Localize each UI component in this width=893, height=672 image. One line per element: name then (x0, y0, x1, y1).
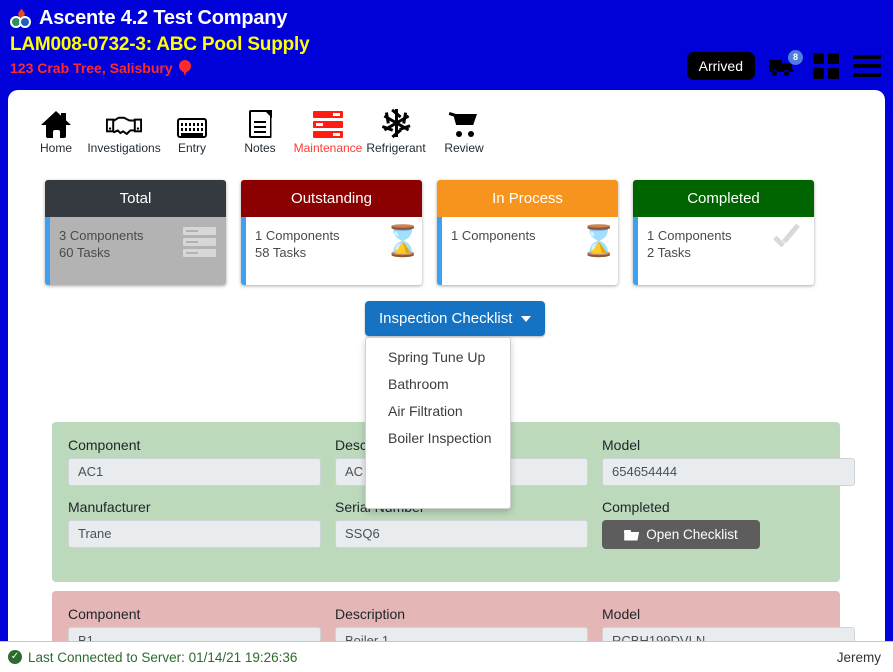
field-component[interactable]: AC1 (68, 458, 321, 486)
connection-status: ✓ Last Connected to Server: 01/14/21 19:… (8, 650, 297, 665)
truck-badge-count: 8 (788, 50, 803, 65)
nav-label-investigations: Investigations (87, 141, 160, 155)
card-text-completed: 1 Components 2 Tasks (647, 227, 732, 261)
card-title-completed: Completed (633, 180, 814, 217)
card-body-in-process: 1 Components ⌛ (437, 217, 618, 285)
main-content: Home Investigations (8, 90, 885, 641)
card-text-outstanding: 1 Components 58 Tasks (255, 227, 340, 261)
hourglass-icon: ⌛ (580, 227, 608, 259)
header-brand-row: Ascente 4.2 Test Company (10, 5, 883, 32)
card-body-total: 3 Components 60 Tasks (45, 217, 226, 285)
label-component: Component (68, 436, 321, 455)
map-pin-icon[interactable] (179, 60, 191, 77)
nav-item-investigations[interactable]: Investigations (90, 106, 158, 155)
card-components-completed: 1 Components (647, 227, 732, 244)
nav-item-refrigerant[interactable]: Refrigerant (362, 106, 430, 155)
label-component: Component (68, 605, 321, 624)
cart-icon (449, 106, 479, 138)
job-address: 123 Crab Tree, Salisbury (10, 58, 173, 78)
truck-icon[interactable]: 8 (769, 53, 799, 79)
status-card-in-process[interactable]: In Process 1 Components ⌛ (437, 180, 618, 285)
card-body-completed: 1 Components 2 Tasks (633, 217, 814, 285)
card-components-outstanding: 1 Components (255, 227, 340, 244)
card-text-total: 3 Components 60 Tasks (59, 227, 144, 261)
connection-status-text: Last Connected to Server: 01/14/21 19:26… (28, 650, 297, 665)
menu-item-boiler-inspection[interactable]: Boiler Inspection (366, 425, 510, 452)
card-title-outstanding: Outstanding (241, 180, 422, 217)
field-serial-number[interactable]: SSQ6 (335, 520, 588, 548)
menu-item-air-filtration[interactable]: Air Filtration (366, 398, 510, 425)
grid-menu-icon[interactable] (813, 53, 839, 79)
home-icon (41, 106, 71, 138)
nav-label-refrigerant: Refrigerant (366, 141, 425, 155)
panel-col-component: Component AC1 Manufacturer Trane (68, 436, 321, 564)
status-bar: ✓ Last Connected to Server: 01/14/21 19:… (0, 641, 893, 672)
app-title: Ascente 4.2 Test Company (39, 6, 287, 31)
card-components-total: 3 Components (59, 227, 144, 244)
card-tasks-outstanding: 58 Tasks (255, 244, 340, 261)
water-flame-logo-icon (10, 9, 32, 29)
menu-item-spring-tune-up[interactable]: Spring Tune Up (366, 344, 510, 371)
inspection-checklist-dropdown: Inspection Checklist Spring Tune Up Bath… (365, 301, 545, 509)
nav-item-home[interactable]: Home (22, 106, 90, 155)
status-card-outstanding[interactable]: Outstanding 1 Components 58 Tasks ⌛ (241, 180, 422, 285)
open-checklist-button[interactable]: Open Checklist (602, 520, 760, 549)
card-title-in-process: In Process (437, 180, 618, 217)
label-model: Model (602, 436, 855, 455)
status-badge[interactable]: Arrived (687, 52, 755, 80)
inspection-checklist-button-label: Inspection Checklist (379, 310, 512, 327)
card-title-total: Total (45, 180, 226, 217)
nav-item-review[interactable]: Review (430, 106, 498, 155)
nav-item-notes[interactable]: Notes (226, 106, 294, 155)
document-icon (249, 106, 272, 138)
status-card-total[interactable]: Total 3 Components 60 Tasks (45, 180, 226, 285)
status-card-row: Total 3 Components 60 Tasks Outstanding … (45, 180, 845, 285)
panel-col-model: Model 654654444 Completed Open Checklist (602, 436, 855, 564)
check-circle-icon: ✓ (8, 650, 22, 664)
nav-label-entry: Entry (178, 141, 206, 155)
folder-open-icon (624, 529, 639, 541)
inspection-checklist-menu: Spring Tune Up Bathroom Air Filtration B… (365, 337, 511, 509)
card-text-in-process: 1 Components (451, 227, 536, 244)
menu-item-bathroom[interactable]: Bathroom (366, 371, 510, 398)
nav-label-notes: Notes (244, 141, 275, 155)
app-header: Ascente 4.2 Test Company LAM008-0732-3: … (0, 0, 893, 90)
hourglass-icon: ⌛ (384, 227, 412, 259)
header-actions: Arrived 8 (687, 52, 881, 80)
hamburger-menu-icon[interactable] (853, 55, 881, 77)
current-user: Jeremy (837, 650, 881, 665)
card-body-outstanding: 1 Components 58 Tasks ⌛ (241, 217, 422, 285)
chevron-down-icon (521, 316, 531, 322)
nav-item-maintenance[interactable]: Maintenance (294, 106, 362, 155)
inspection-checklist-button[interactable]: Inspection Checklist (365, 301, 545, 336)
field-manufacturer[interactable]: Trane (68, 520, 321, 548)
app-root: Ascente 4.2 Test Company LAM008-0732-3: … (0, 0, 893, 672)
card-tasks-total: 60 Tasks (59, 244, 144, 261)
nav-label-home: Home (40, 141, 72, 155)
nav-label-review: Review (444, 141, 483, 155)
label-description: Description (335, 605, 588, 624)
nav-label-maintenance: Maintenance (294, 141, 363, 155)
server-stack-icon (183, 227, 216, 257)
check-icon (770, 227, 804, 257)
status-card-completed[interactable]: Completed 1 Components 2 Tasks (633, 180, 814, 285)
card-components-in-process: 1 Components (451, 227, 536, 244)
label-panel-status: Completed (602, 498, 855, 517)
open-checklist-label: Open Checklist (646, 527, 738, 542)
label-model: Model (602, 605, 855, 624)
field-model[interactable]: 654654444 (602, 458, 855, 486)
card-tasks-completed: 2 Tasks (647, 244, 732, 261)
keyboard-icon (177, 106, 207, 138)
maintenance-bars-icon (313, 106, 343, 138)
module-toolbar: Home Investigations (22, 106, 498, 155)
snowflake-icon (381, 106, 411, 138)
label-manufacturer: Manufacturer (68, 498, 321, 517)
handshake-icon (106, 106, 142, 138)
nav-item-entry[interactable]: Entry (158, 106, 226, 155)
